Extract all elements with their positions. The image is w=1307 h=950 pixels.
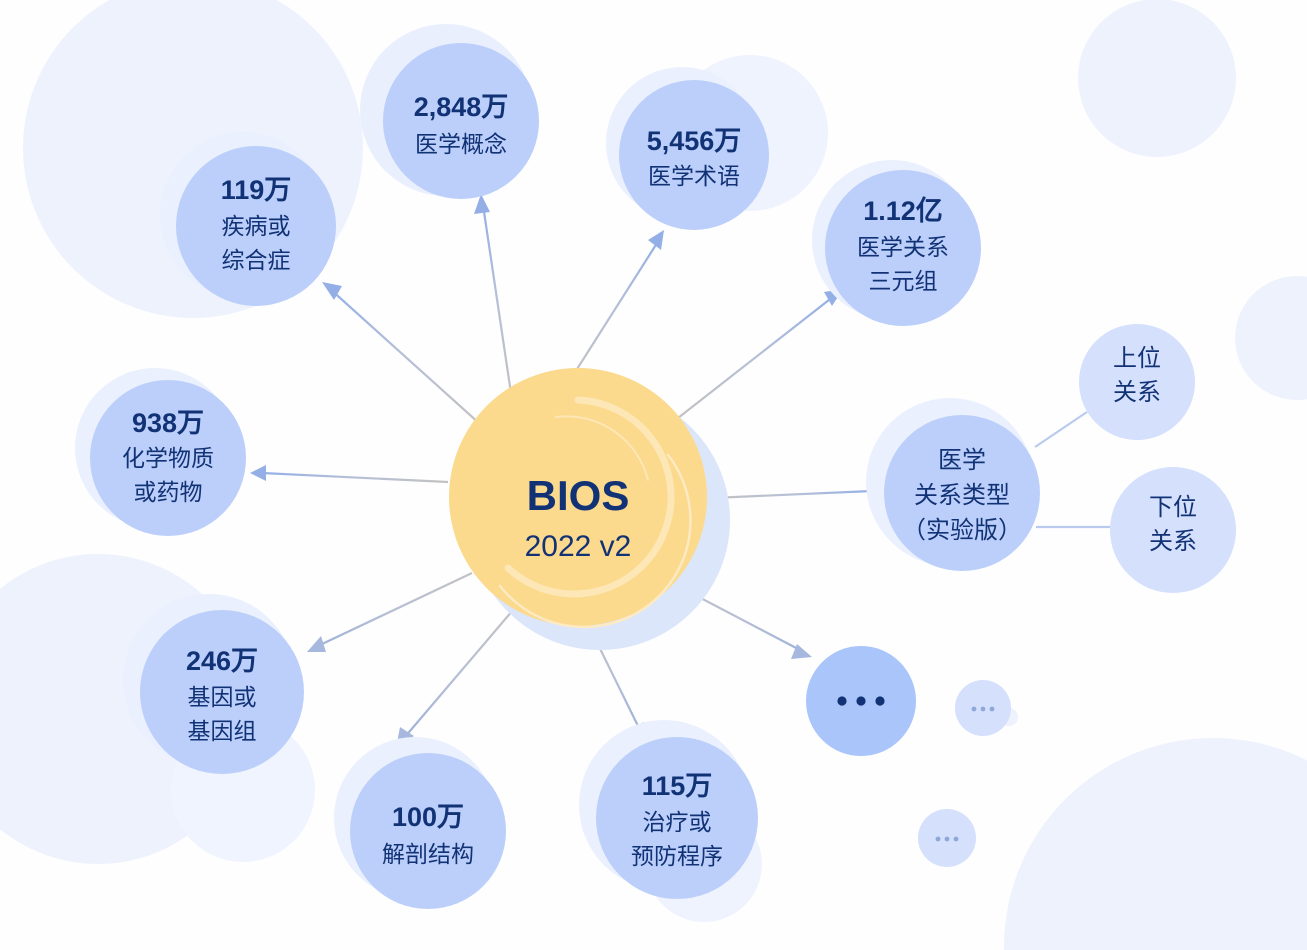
background-blob-bottom-right xyxy=(1004,738,1307,950)
node-value-anatomical-structure: 100万 xyxy=(392,802,464,832)
diagram-canvas: BIOS 2022 v2 2,848万 医学概念 5,456万 医学术语 119… xyxy=(0,0,1307,950)
node-label-medical-relation-types-line2: 关系类型 xyxy=(914,482,1010,509)
center-subtitle: 2022 v2 xyxy=(525,530,632,563)
node-value-medical-concepts: 2,848万 xyxy=(414,92,509,122)
node-more-ellipsis[interactable] xyxy=(806,646,916,756)
node-value-therapeutic-procedure: 115万 xyxy=(642,771,713,801)
connector-hypernym-relation xyxy=(1035,412,1087,447)
node-label-gene-or-genome-line1: 基因或 xyxy=(188,684,257,710)
node-label-medical-relation-triples-line1: 医学关系 xyxy=(857,234,949,260)
node-value-medical-terms: 5,456万 xyxy=(647,126,742,156)
connector-medical-terms xyxy=(565,230,664,388)
node-label-chemical-or-drug-line1: 化学物质 xyxy=(122,445,214,471)
connector-disease-or-syndrome xyxy=(322,282,480,424)
node-label-medical-terms: 医学术语 xyxy=(648,163,740,189)
ellipsis-dot-1-icon xyxy=(837,696,846,705)
node-disease-or-syndrome[interactable]: 119万 疾病或 综合症 xyxy=(176,146,336,306)
background-blob-right-edge xyxy=(1235,276,1307,400)
node-value-gene-or-genome: 246万 xyxy=(186,646,258,676)
node-label-hypernym-relation-line2: 关系 xyxy=(1113,379,1161,406)
node-label-hyponym-relation-line2: 关系 xyxy=(1149,528,1197,555)
node-medical-relation-types[interactable]: 医学 关系类型 （实验版） xyxy=(884,415,1040,571)
node-ellipsis-small-1 xyxy=(955,680,1011,736)
node-medical-relation-triples[interactable]: 1.12亿 医学关系 三元组 xyxy=(825,170,981,326)
node-label-therapeutic-procedure-line1: 治疗或 xyxy=(643,809,712,835)
ellipsis-small-2-dot-1-icon xyxy=(936,837,941,842)
ellipsis-small-2-dot-2-icon xyxy=(945,837,950,842)
ellipsis-small-1-dot-3-icon xyxy=(990,707,995,712)
node-value-medical-relation-triples: 1.12亿 xyxy=(863,196,943,226)
node-therapeutic-procedure[interactable]: 115万 治疗或 预防程序 xyxy=(596,737,758,899)
node-label-anatomical-structure: 解剖结构 xyxy=(382,841,474,867)
ellipsis-dot-2-icon xyxy=(856,696,865,705)
node-label-medical-concepts: 医学概念 xyxy=(415,131,507,157)
background-blob-top-right xyxy=(1078,0,1236,157)
center-title: BIOS xyxy=(527,472,630,519)
node-ellipsis-small-2 xyxy=(918,809,976,867)
node-medical-terms[interactable]: 5,456万 医学术语 xyxy=(619,80,769,230)
connector-anatomical-structure xyxy=(396,603,519,748)
node-label-medical-relation-types-line1: 医学 xyxy=(938,447,986,474)
node-label-disease-or-syndrome-line2: 综合症 xyxy=(222,247,291,273)
ellipsis-small-1-dot-1-icon xyxy=(972,707,977,712)
node-label-therapeutic-procedure-line2: 预防程序 xyxy=(631,843,723,869)
ellipsis-small-2-dot-3-icon xyxy=(954,837,959,842)
node-label-disease-or-syndrome-line1: 疾病或 xyxy=(222,213,291,239)
node-label-gene-or-genome-line2: 基因组 xyxy=(188,718,257,744)
node-label-hypernym-relation-line1: 上位 xyxy=(1113,345,1161,372)
connector-medical-relation-triples xyxy=(678,289,843,418)
node-hyponym-relation[interactable]: 下位 关系 xyxy=(1110,467,1236,593)
node-label-hyponym-relation-line1: 下位 xyxy=(1149,494,1197,521)
node-anatomical-structure[interactable]: 100万 解剖结构 xyxy=(350,753,506,909)
connector-gene-or-genome xyxy=(307,573,472,652)
node-label-medical-relation-triples-line2: 三元组 xyxy=(869,268,938,294)
node-value-chemical-or-drug: 938万 xyxy=(132,408,204,438)
connector-medical-relation-types xyxy=(712,483,883,499)
node-chemical-or-drug[interactable]: 938万 化学物质 或药物 xyxy=(90,380,246,536)
node-label-medical-relation-types-line3: （实验版） xyxy=(902,517,1022,544)
connector-medical-concepts xyxy=(474,194,512,400)
node-label-chemical-or-drug-line2: 或药物 xyxy=(134,479,203,505)
ellipsis-small-1-dot-2-icon xyxy=(981,707,986,712)
connector-chemical-or-drug xyxy=(250,465,448,482)
node-medical-concepts[interactable]: 2,848万 医学概念 xyxy=(383,43,539,199)
ellipsis-dot-3-icon xyxy=(875,696,884,705)
node-gene-or-genome[interactable]: 246万 基因或 基因组 xyxy=(140,610,304,774)
node-value-disease-or-syndrome: 119万 xyxy=(221,175,292,205)
bios-knowledge-graph-diagram: BIOS 2022 v2 2,848万 医学概念 5,456万 医学术语 119… xyxy=(0,0,1307,950)
node-hypernym-relation[interactable]: 上位 关系 xyxy=(1079,324,1195,440)
